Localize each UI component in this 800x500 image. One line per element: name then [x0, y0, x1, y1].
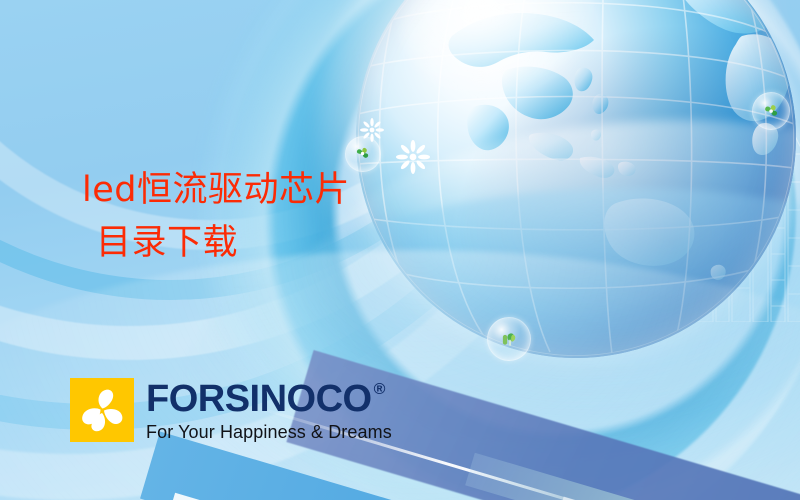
bubble-leaf-lower [487, 317, 531, 361]
logo-tagline: For Your Happiness & Dreams [146, 423, 392, 441]
promo-banner: led恒流驱动芯片 目录下载 FORSINOCO ® For Your Happ… [0, 0, 800, 500]
registered-trademark-symbol: ® [374, 382, 385, 398]
logo-wordmark: FORSINOCO ® [146, 380, 392, 418]
logo-text-block: FORSINOCO ® For Your Happiness & Dreams [146, 380, 392, 441]
bubble-edge-right [752, 92, 790, 130]
bubble-leaf-icon [497, 327, 521, 351]
logo-mark [70, 378, 134, 442]
bubble-edge-icon [761, 101, 781, 121]
headline-line-1: led恒流驱动芯片 [82, 164, 502, 217]
ribbon-steel [465, 453, 800, 500]
headline-line-2: 目录下载 [82, 217, 502, 270]
ribbon-white [165, 493, 800, 500]
headline-block: led恒流驱动芯片 目录下载 [82, 164, 502, 270]
bubble-pinwheel-icon [353, 144, 372, 163]
logo-wordmark-text: FORSINOCO [146, 380, 372, 418]
four-petal-pinwheel-icon [70, 378, 134, 442]
company-logo: FORSINOCO ® For Your Happiness & Dreams [70, 378, 392, 442]
ribbon-steel-light [556, 497, 800, 500]
